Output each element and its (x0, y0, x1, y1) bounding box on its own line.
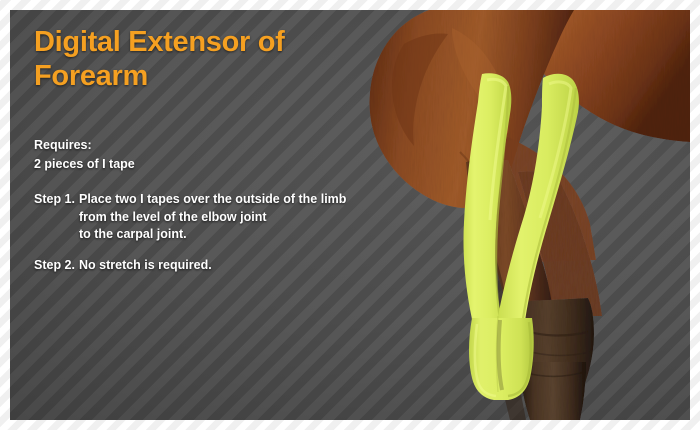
step-1-body: Place two I tapes over the outside of th… (79, 191, 384, 244)
instruction-text-column: Digital Extensor of Forearm Requires: 2 … (34, 26, 384, 288)
horse-leg-photo (340, 10, 690, 420)
step-2-body: No stretch is required. (79, 257, 384, 275)
step-1-line-1: Place two I tapes over the outside of th… (79, 191, 384, 209)
step-1: Step 1. Place two I tapes over the outsi… (34, 191, 384, 244)
page-title: Digital Extensor of Forearm (34, 26, 344, 94)
step-1-line-3: to the carpal joint. (79, 226, 384, 244)
requires-block: Requires: 2 pieces of I tape (34, 136, 384, 174)
requires-item: 2 pieces of I tape (34, 155, 384, 174)
step-1-line-2: from the level of the elbow joint (79, 209, 384, 227)
instruction-card: Digital Extensor of Forearm Requires: 2 … (0, 0, 700, 430)
card-panel: Digital Extensor of Forearm Requires: 2 … (10, 10, 690, 420)
step-2: Step 2. No stretch is required. (34, 257, 384, 275)
step-2-line-1: No stretch is required. (79, 257, 384, 275)
steps-list: Step 1. Place two I tapes over the outsi… (34, 191, 384, 275)
step-1-label: Step 1. (34, 191, 79, 244)
requires-heading: Requires: (34, 136, 384, 155)
step-2-label: Step 2. (34, 257, 79, 275)
